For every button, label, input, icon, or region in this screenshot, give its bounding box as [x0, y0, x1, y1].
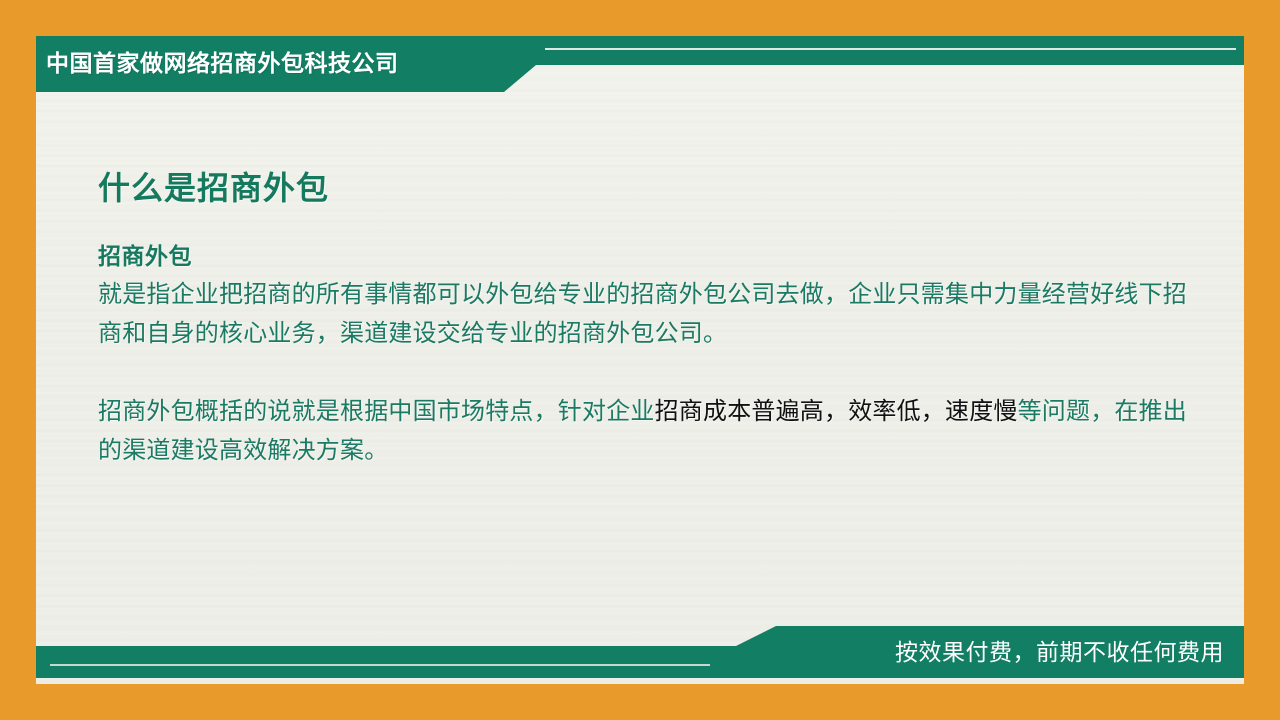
- paragraph-summary-highlight: 招商成本普遍高，效率低，速度慢: [655, 397, 1018, 425]
- slide-body: 什么是招商外包 招商外包 就是指企业把招商的所有事情都可以外包给专业的招商外包公…: [98, 168, 1208, 470]
- header-banner: 中国首家做网络招商外包科技公司: [36, 36, 1244, 96]
- footer-banner: 按效果付费，前期不收任何费用: [36, 626, 1244, 684]
- paragraph-summary: 招商外包概括的说就是根据中国市场特点，针对企业招商成本普遍高，效率低，速度慢等问…: [98, 392, 1208, 470]
- paragraph-definition: 就是指企业把招商的所有事情都可以外包给专业的招商外包公司去做，企业只需集中力量经…: [98, 275, 1208, 353]
- page-title: 什么是招商外包: [98, 168, 1208, 208]
- paragraph-spacer: [98, 353, 1208, 392]
- footer-accent-line: [50, 664, 710, 666]
- paragraph-summary-part-1: 招商外包概括的说就是根据中国市场特点，针对企业: [98, 397, 655, 425]
- footer-tagline: 按效果付费，前期不收任何费用: [895, 626, 1224, 678]
- header-accent-line: [545, 48, 1236, 50]
- slide: 中国首家做网络招商外包科技公司 什么是招商外包 招商外包 就是指企业把招商的所有…: [0, 0, 1280, 720]
- slide-content-panel: 中国首家做网络招商外包科技公司 什么是招商外包 招商外包 就是指企业把招商的所有…: [36, 36, 1244, 684]
- lead-label: 招商外包: [98, 242, 1208, 273]
- header-title: 中国首家做网络招商外包科技公司: [46, 36, 399, 92]
